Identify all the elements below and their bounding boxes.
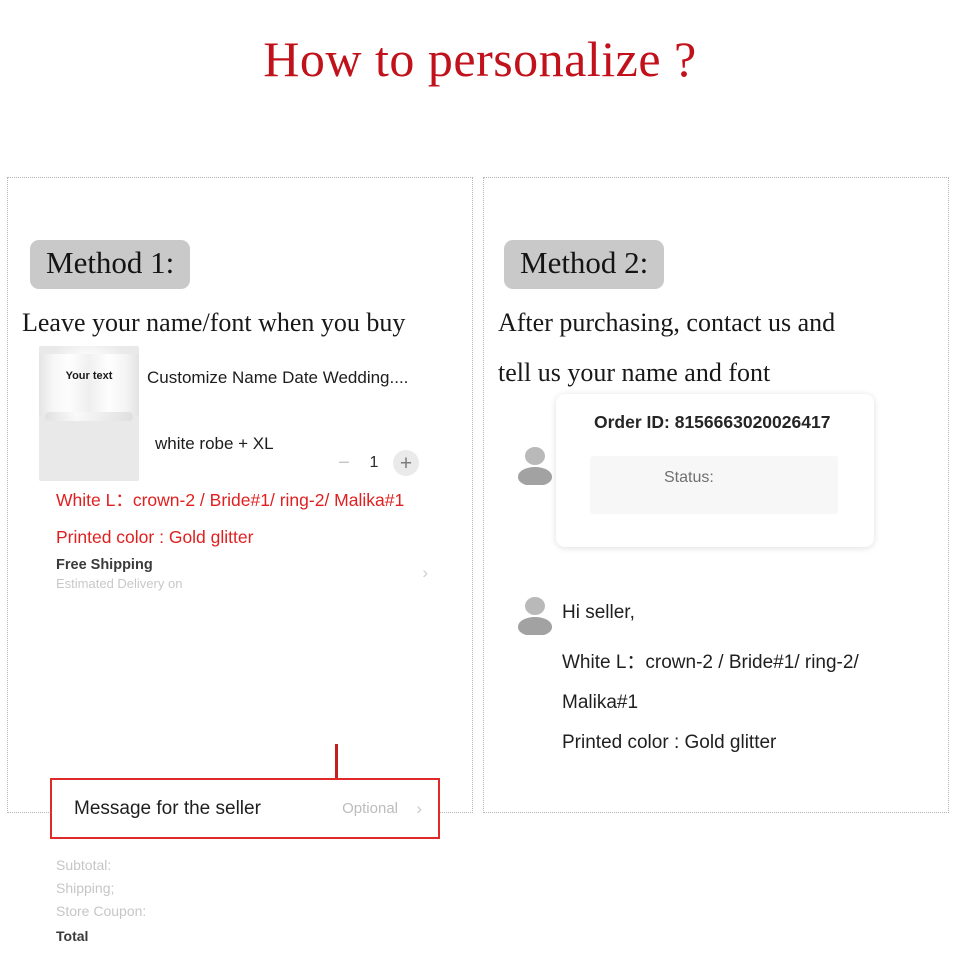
order-id-label: Order ID: 8156663020026417 <box>594 411 830 434</box>
total-label: Total <box>56 925 146 948</box>
method-2-panel: Method 2: After purchasing, contact us a… <box>483 177 949 813</box>
page-title: How to personalize ? <box>0 28 960 90</box>
shipping-label: Shipping; <box>56 877 146 900</box>
message-for-seller-row[interactable]: Message for the seller Optional › <box>50 778 440 839</box>
message-for-seller-label: Message for the seller <box>74 797 261 821</box>
avatar <box>516 445 554 485</box>
product-variant: white robe + XL <box>155 433 274 455</box>
shipping-subtitle: Estimated Delivery on <box>56 575 434 593</box>
order-status-block <box>590 456 838 514</box>
shipping-row[interactable]: Free Shipping Estimated Delivery on › <box>56 556 434 593</box>
method-1-badge: Method 1: <box>30 240 190 289</box>
quantity-stepper[interactable]: − 1 + <box>333 450 419 476</box>
avatar-head-icon <box>525 447 545 465</box>
chat-greeting: Hi seller, <box>562 600 635 626</box>
chat-message-line-3: Printed color : Gold glitter <box>562 730 776 756</box>
red-note-options: White L：crown-2 / Bride#1/ ring-2/ Malik… <box>56 489 404 511</box>
methods-container: Method 1: Leave your name/font when you … <box>7 177 949 813</box>
chat-message-line-1: White L：crown-2 / Bride#1/ ring-2/ <box>562 650 859 676</box>
robe-custom-text: Your text <box>39 370 139 383</box>
method-2-subtitle-line1: After purchasing, contact us and <box>498 306 835 340</box>
message-optional-hint: Optional <box>342 799 398 819</box>
quantity-decrease-icon[interactable]: − <box>333 452 355 474</box>
product-title: Customize Name Date Wedding.... <box>147 367 408 389</box>
order-totals: Subtotal: Shipping; Store Coupon: Total <box>56 854 146 948</box>
red-note-printed-color: Printed color : Gold glitter <box>56 526 253 548</box>
method-2-subtitle-line2: tell us your name and font <box>498 356 770 390</box>
order-status-label: Status: <box>664 467 714 488</box>
method-1-panel: Method 1: Leave your name/font when you … <box>7 177 473 813</box>
robe-product-image: Your text <box>39 346 139 481</box>
chevron-right-icon: › <box>416 800 422 817</box>
chat-message-line-2: Malika#1 <box>562 690 638 716</box>
method-2-badge: Method 2: <box>504 240 664 289</box>
quantity-increase-icon[interactable]: + <box>393 450 419 476</box>
subtotal-label: Subtotal: <box>56 854 146 877</box>
order-card: Order ID: 8156663020026417 Status: <box>556 394 874 547</box>
store-coupon-label: Store Coupon: <box>56 900 146 923</box>
shipping-title: Free Shipping <box>56 556 434 575</box>
avatar-head-icon <box>525 597 545 615</box>
chevron-right-icon: › <box>422 564 428 581</box>
quantity-value: 1 <box>369 454 379 472</box>
avatar-body-icon <box>518 617 552 635</box>
avatar <box>516 595 554 635</box>
personalization-instructions-page: How to personalize ? Method 1: Leave you… <box>0 0 960 960</box>
avatar-body-icon <box>518 467 552 485</box>
method-1-subtitle: Leave your name/font when you buy <box>22 306 405 340</box>
